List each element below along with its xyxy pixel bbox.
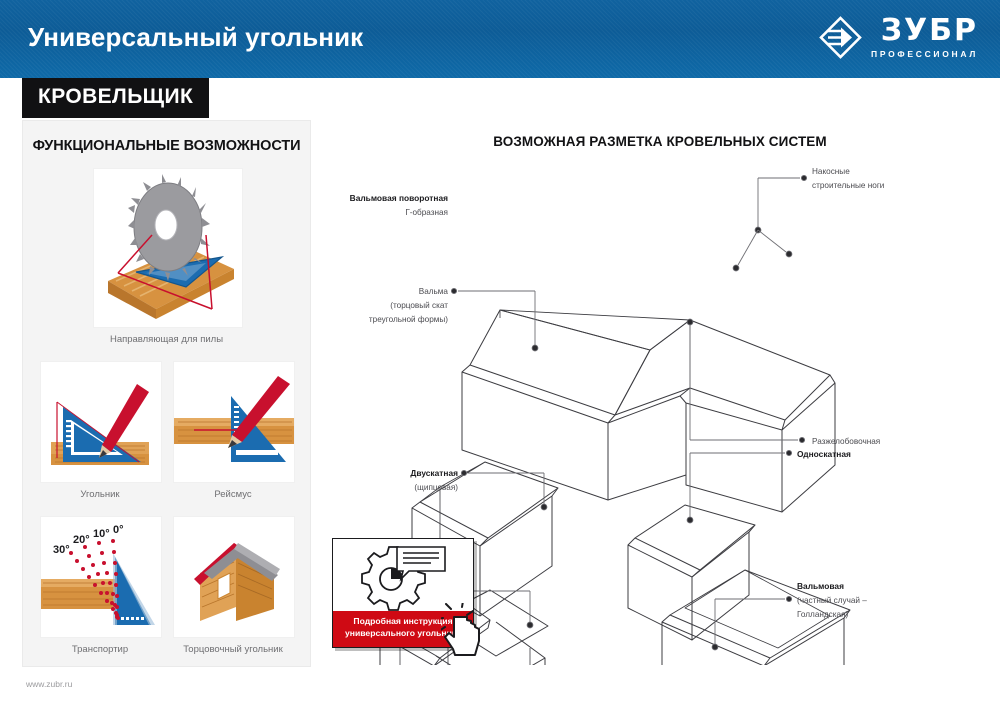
logo-wordmark: ЗУБР bbox=[881, 16, 978, 46]
brand-logo: ЗУБР ПРОФЕССИОНАЛ bbox=[819, 16, 978, 59]
product-line-label: КРОВЕЛЬЩИК bbox=[38, 85, 193, 108]
label-hip-dutch-sub2: Голландская) bbox=[797, 610, 849, 619]
label-hip-rotated-sub1: Г-образная bbox=[405, 208, 448, 217]
circular-saw-guide-illustration bbox=[93, 168, 243, 328]
marking-gauge-illustration bbox=[173, 361, 295, 483]
diamond-arrow-logo-icon bbox=[819, 16, 862, 59]
label-gable-title: Двускатная bbox=[410, 468, 458, 478]
miter-square-roof-illustration bbox=[173, 516, 295, 638]
shed-roof-drawing bbox=[628, 505, 755, 640]
label-valma-sub1: (торцовый скат bbox=[390, 301, 448, 310]
page-title: Универсальный угольник bbox=[28, 22, 363, 53]
square-ruler-pencil-illustration bbox=[40, 361, 162, 483]
features-panel: ФУНКЦИОНАЛЬНЫЕ ВОЗМОЖНОСТИ bbox=[22, 120, 311, 667]
feature-caption: Направляющая для пилы bbox=[93, 334, 241, 345]
instruction-callout[interactable]: Подробная инструкция универсального угол… bbox=[332, 538, 474, 648]
feature-caption: Торцовочный угольник bbox=[173, 644, 293, 655]
gear-document-icon bbox=[333, 539, 471, 611]
label-nakosnye-1: Накосные bbox=[812, 167, 850, 176]
feature-caption: Угольник bbox=[40, 489, 160, 500]
pointing-hand-icon bbox=[441, 603, 489, 659]
instruction-line-1: Подробная инструкция bbox=[353, 616, 452, 626]
feature-item-protractor: 30° 20° 10° 0° Транспортир bbox=[40, 516, 160, 655]
label-razzhelobovochnaya: Разжелобовочная bbox=[812, 437, 880, 446]
product-line-badge: КРОВЕЛЬЩИК bbox=[22, 78, 209, 118]
logo-subtitle: ПРОФЕССИОНАЛ bbox=[871, 49, 978, 59]
feature-caption: Рейсмус bbox=[173, 489, 293, 500]
protractor-illustration: 30° 20° 10° 0° bbox=[40, 516, 162, 638]
protractor-angle-label: 10° bbox=[93, 528, 110, 540]
feature-item-saw-guide: Направляющая для пилы bbox=[93, 168, 241, 345]
label-hip-dutch-title: Вальмовая bbox=[797, 581, 844, 591]
footer-url[interactable]: www.zubr.ru bbox=[26, 679, 72, 689]
feature-item-miter: Торцовочный угольник bbox=[173, 516, 293, 655]
label-shed-title: Односкатная bbox=[797, 449, 851, 459]
label-valma-sub2: треугольной формы) bbox=[369, 315, 448, 324]
label-hip-rotated-title: Вальмовая поворотная bbox=[350, 193, 448, 203]
feature-item-square: Угольник bbox=[40, 361, 160, 500]
page-header: Универсальный угольник ЗУБР ПРОФЕССИОНАЛ bbox=[0, 0, 1000, 78]
feature-caption: Транспортир bbox=[40, 644, 160, 655]
features-panel-title: ФУНКЦИОНАЛЬНЫЕ ВОЗМОЖНОСТИ bbox=[23, 138, 310, 154]
protractor-angle-label: 30° bbox=[53, 544, 70, 556]
label-gable-sub: (щипцовая) bbox=[414, 483, 458, 492]
feature-item-gauge: Рейсмус bbox=[173, 361, 293, 500]
label-hip-dutch-sub1: (частный случай – bbox=[797, 596, 867, 605]
protractor-angle-label: 20° bbox=[73, 534, 90, 546]
label-nakosnye-2: строительные ноги bbox=[812, 181, 884, 190]
label-valma: Вальма bbox=[419, 287, 449, 296]
hip-rotated-roof-drawing bbox=[462, 310, 835, 512]
protractor-angle-label: 0° bbox=[113, 524, 124, 536]
